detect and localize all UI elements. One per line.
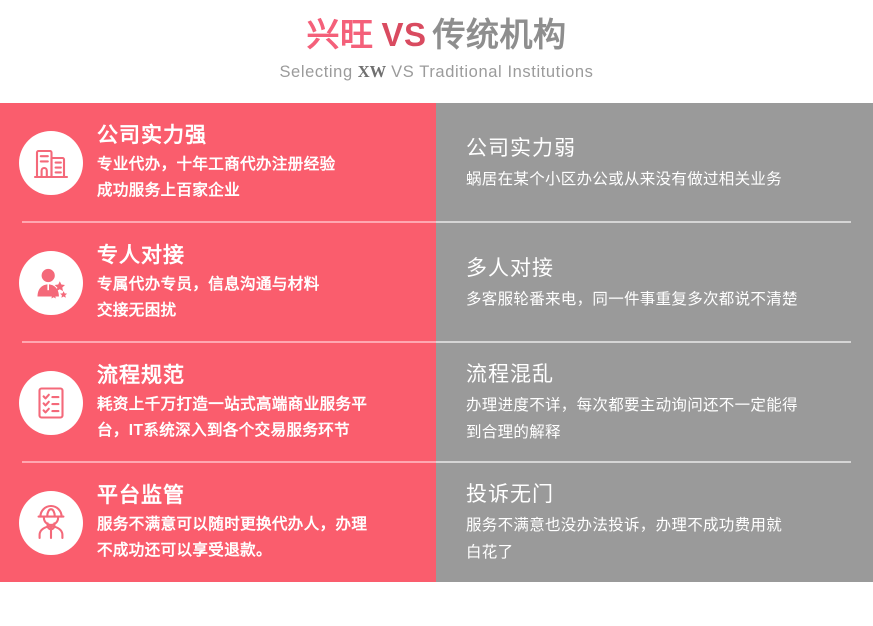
brand-row-2: 专人对接 专属代办专员，信息沟通与材料 交接无困扰: [0, 223, 436, 343]
brand-row-2-desc-line2: 交接无困扰: [97, 298, 426, 324]
traditional-row-3: 流程混乱 办理进度不详，每次都要主动询问还不一定能得 到合理的解释: [436, 343, 873, 463]
traditional-row-2-heading: 多人对接: [466, 254, 855, 284]
traditional-row-4-text: 投诉无门 服务不满意也没办法投诉，办理不成功费用就 白花了: [436, 480, 873, 566]
brand-row-4-desc-line2: 不成功还可以享受退款。: [97, 538, 426, 564]
brand-row-3-heading: 流程规范: [97, 362, 426, 390]
subtitle-xw-text: XW: [353, 62, 391, 81]
traditional-row-4-heading: 投诉无门: [466, 480, 855, 510]
brand-row-1-desc-line2: 成功服务上百家企业: [97, 178, 426, 204]
footer-whitespace: [0, 582, 873, 626]
title-vs-text: VS: [373, 16, 432, 53]
traditional-row-3-desc-line1: 办理进度不详，每次都要主动询问还不一定能得: [466, 392, 855, 419]
column-traditional: 公司实力弱 蜗居在某个小区办公或从来没有做过相关业务 多人对接 多客服轮番来电，…: [436, 103, 873, 582]
traditional-row-1-desc-line1: 蜗居在某个小区办公或从来没有做过相关业务: [466, 166, 855, 193]
page-header: 兴旺VS传统机构 SelectingXWVS Traditional Insti…: [0, 0, 873, 103]
page-subtitle: SelectingXWVS Traditional Institutions: [0, 56, 873, 82]
subtitle-left-text: Selecting: [279, 63, 352, 81]
brand-row-1-text: 公司实力强 专业代办，十年工商代办注册经验 成功服务上百家企业: [97, 122, 436, 204]
title-rest-text: 传统机构: [433, 16, 567, 53]
brand-row-1: 公司实力强 专业代办，十年工商代办注册经验 成功服务上百家企业: [0, 103, 436, 223]
brand-row-3: 流程规范 耗资上千万打造一站式高端商业服务平 台，IT系统深入到各个交易服务环节: [0, 343, 436, 463]
subtitle-right-text: VS Traditional Institutions: [391, 63, 593, 81]
traditional-row-1-heading: 公司实力弱: [466, 134, 855, 164]
brand-row-3-desc-line2: 台，IT系统深入到各个交易服务环节: [97, 418, 426, 444]
traditional-row-4-desc-line1: 服务不满意也没办法投诉，办理不成功费用就: [466, 512, 855, 539]
comparison-board: 公司实力强 专业代办，十年工商代办注册经验 成功服务上百家企业: [0, 103, 873, 582]
brand-row-4: 平台监管 服务不满意可以随时更换代办人，办理 不成功还可以享受退款。: [0, 463, 436, 582]
traditional-row-2: 多人对接 多客服轮番来电，同一件事重复多次都说不清楚: [436, 223, 873, 343]
checklist-icon: [19, 371, 83, 435]
traditional-row-2-text: 多人对接 多客服轮番来电，同一件事重复多次都说不清楚: [436, 254, 873, 313]
person-star-icon: [19, 251, 83, 315]
title-brand-text: 兴旺: [306, 16, 373, 53]
brand-row-4-text: 平台监管 服务不满意可以随时更换代办人，办理 不成功还可以享受退款。: [97, 482, 436, 564]
brand-row-3-text: 流程规范 耗资上千万打造一站式高端商业服务平 台，IT系统深入到各个交易服务环节: [97, 362, 436, 444]
supervisor-helmet-icon: [19, 491, 83, 555]
brand-row-1-heading: 公司实力强: [97, 122, 426, 150]
traditional-row-4: 投诉无门 服务不满意也没办法投诉，办理不成功费用就 白花了: [436, 463, 873, 582]
traditional-row-3-desc-line2: 到合理的解释: [466, 419, 855, 446]
traditional-row-1: 公司实力弱 蜗居在某个小区办公或从来没有做过相关业务: [436, 103, 873, 223]
traditional-row-4-desc-line2: 白花了: [466, 539, 855, 566]
column-brand: 公司实力强 专业代办，十年工商代办注册经验 成功服务上百家企业: [0, 103, 436, 582]
brand-row-1-desc-line1: 专业代办，十年工商代办注册经验: [97, 152, 426, 178]
brand-row-3-desc-line1: 耗资上千万打造一站式高端商业服务平: [97, 392, 426, 418]
traditional-row-1-text: 公司实力弱 蜗居在某个小区办公或从来没有做过相关业务: [436, 134, 873, 193]
building-icon: [19, 131, 83, 195]
traditional-row-2-desc-line1: 多客服轮番来电，同一件事重复多次都说不清楚: [466, 286, 855, 313]
brand-row-2-heading: 专人对接: [97, 242, 426, 270]
page-title: 兴旺VS传统机构: [0, 0, 873, 56]
comparison-infographic: 兴旺VS传统机构 SelectingXWVS Traditional Insti…: [0, 0, 873, 626]
brand-row-2-desc-line1: 专属代办专员，信息沟通与材料: [97, 272, 426, 298]
traditional-row-3-heading: 流程混乱: [466, 360, 855, 390]
brand-row-2-text: 专人对接 专属代办专员，信息沟通与材料 交接无困扰: [97, 242, 436, 324]
brand-row-4-desc-line1: 服务不满意可以随时更换代办人，办理: [97, 512, 426, 538]
traditional-row-3-text: 流程混乱 办理进度不详，每次都要主动询问还不一定能得 到合理的解释: [436, 360, 873, 446]
brand-row-4-heading: 平台监管: [97, 482, 426, 510]
